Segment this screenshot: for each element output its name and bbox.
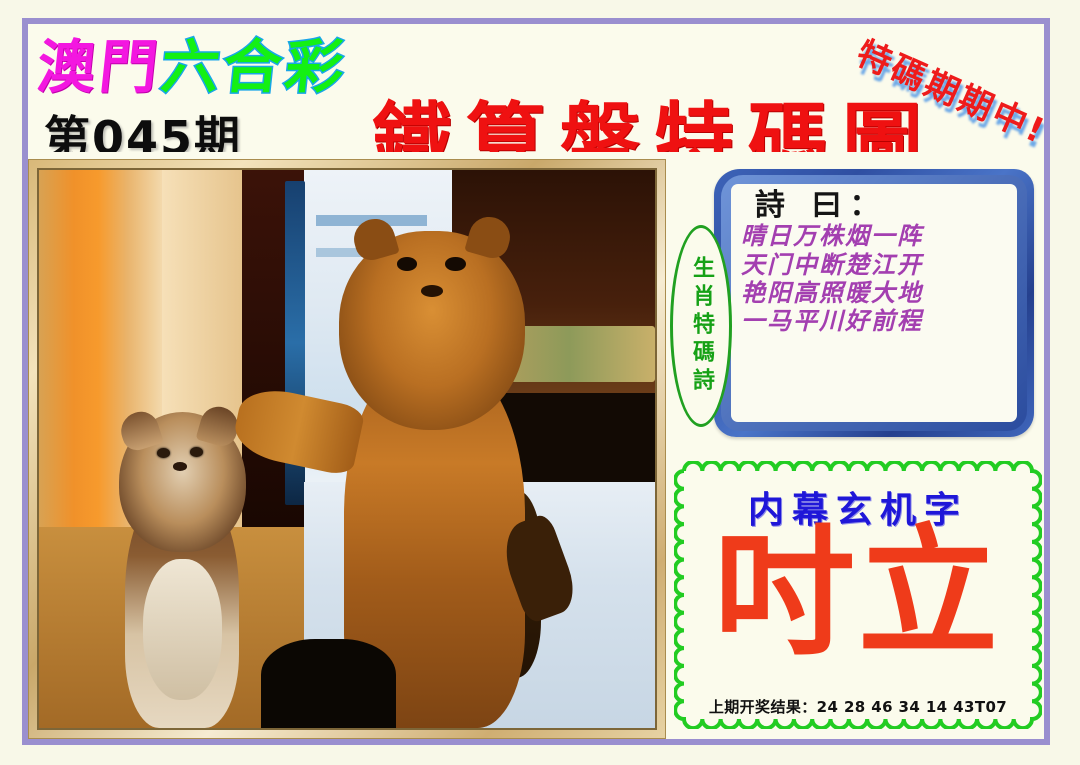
lottery-poster: 澳門六合彩 第045期 鐵算盤特碼圖 特碼期期中! bbox=[0, 0, 1080, 765]
page-title: 鐵算盤特碼圖 bbox=[372, 76, 936, 152]
yorkie-nose bbox=[421, 285, 443, 297]
secret-word-section: 内幕玄机字 吋立 上期开奖结果：24 28 46 34 14 43T07 bbox=[674, 461, 1042, 729]
poem-line-2: 天门中断楚江开 bbox=[741, 251, 1009, 279]
brand-logo-name: 六合彩 bbox=[158, 33, 351, 101]
two-dogs-photo bbox=[39, 170, 655, 728]
chihuahua-chest bbox=[143, 559, 222, 700]
poem-card-inner: 詩 曰： 晴日万株烟一阵 天门中断楚江开 艳阳高照暖大地 一马平川好前程 bbox=[731, 184, 1017, 422]
chihuahua-nose bbox=[173, 462, 187, 470]
zodiac-poem-badge: 生肖特碼詩 bbox=[670, 225, 732, 427]
photo-frame-inner bbox=[37, 168, 657, 730]
chihuahua-eye-left bbox=[157, 448, 170, 458]
chihuahua-ear-left bbox=[116, 407, 164, 454]
issue-number: 第045期 bbox=[44, 102, 242, 152]
poem-card: 詩 曰： 晴日万株烟一阵 天门中断楚江开 艳阳高照暖大地 一马平川好前程 bbox=[714, 169, 1034, 437]
poem-line-3: 艳阳高照暖大地 bbox=[741, 279, 1009, 307]
poem-line-4: 一马平川好前程 bbox=[741, 307, 1009, 335]
header-band: 澳門六合彩 第045期 鐵算盤特碼圖 特碼期期中! bbox=[28, 24, 1044, 152]
secret-word-value: 吋立 bbox=[674, 523, 1042, 663]
photo-frame bbox=[28, 159, 666, 739]
chihuahua-eye-right bbox=[190, 447, 203, 457]
zodiac-poem-section: 生肖特碼詩 詩 曰： 晴日万株烟一阵 天门中断楚江开 艳阳高照暖大地 一马平川好… bbox=[672, 169, 1044, 441]
poem-heading: 詩 曰： bbox=[755, 190, 1009, 222]
chihuahua-head bbox=[119, 412, 247, 553]
right-column: 生肖特碼詩 詩 曰： 晴日万株烟一阵 天门中断楚江开 艳阳高照暖大地 一马平川好… bbox=[672, 159, 1044, 739]
poem-line-1: 晴日万株烟一阵 bbox=[741, 222, 1009, 250]
yorkie-eye-left bbox=[397, 257, 417, 271]
brand-logo: 澳門六合彩 bbox=[34, 24, 353, 104]
previous-draw-result: 上期开奖结果：24 28 46 34 14 43T07 bbox=[674, 696, 1042, 717]
brand-logo-region: 澳門 bbox=[34, 33, 165, 101]
photo-foreground-shadow bbox=[261, 639, 397, 728]
yorkie-head bbox=[339, 231, 525, 430]
yorkie-eye-right bbox=[445, 257, 465, 271]
zodiac-poem-label: 生肖特碼詩 bbox=[690, 256, 712, 396]
